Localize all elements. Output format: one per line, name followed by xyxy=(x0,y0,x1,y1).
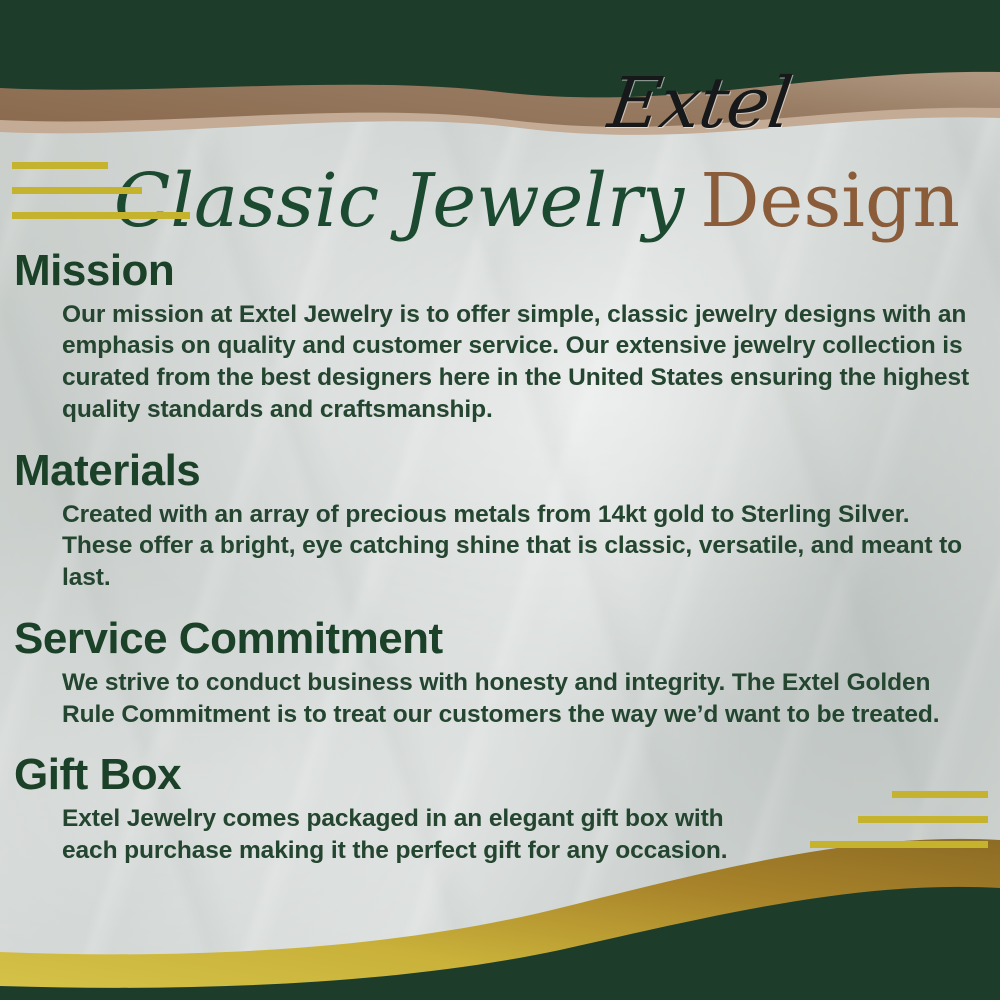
page-title-script: Classic Jewelry xyxy=(114,158,684,244)
section-body: Extel Jewelry comes packaged in an elega… xyxy=(62,803,740,867)
section-heading: Gift Box xyxy=(14,752,1000,799)
section-heading: Materials xyxy=(14,448,1000,495)
section-heading: Mission xyxy=(14,248,1000,295)
page-title-serif: Design xyxy=(700,158,960,244)
section-body: Our mission at Extel Jewelry is to offer… xyxy=(62,299,970,426)
section-gift-box: Gift Box Extel Jewelry comes packaged in… xyxy=(0,752,1000,866)
brand-logo: Extel xyxy=(612,68,872,160)
section-heading: Service Commitment xyxy=(14,616,1000,663)
poster-canvas: Extel Classic JewelryDesign Mission Our … xyxy=(0,0,1000,1000)
section-service-commitment: Service Commitment We strive to conduct … xyxy=(0,616,1000,730)
section-body: We strive to conduct business with hones… xyxy=(62,667,970,731)
content-sections: Mission Our mission at Extel Jewelry is … xyxy=(0,248,1000,889)
gold-bar xyxy=(12,212,190,219)
section-body: Created with an array of precious metals… xyxy=(62,499,970,595)
brand-logo-text: Extel xyxy=(604,68,879,138)
gold-bar xyxy=(12,187,142,194)
gold-bars-top-left xyxy=(12,162,190,219)
gold-bar xyxy=(12,162,108,169)
section-mission: Mission Our mission at Extel Jewelry is … xyxy=(0,248,1000,426)
section-materials: Materials Created with an array of preci… xyxy=(0,448,1000,594)
